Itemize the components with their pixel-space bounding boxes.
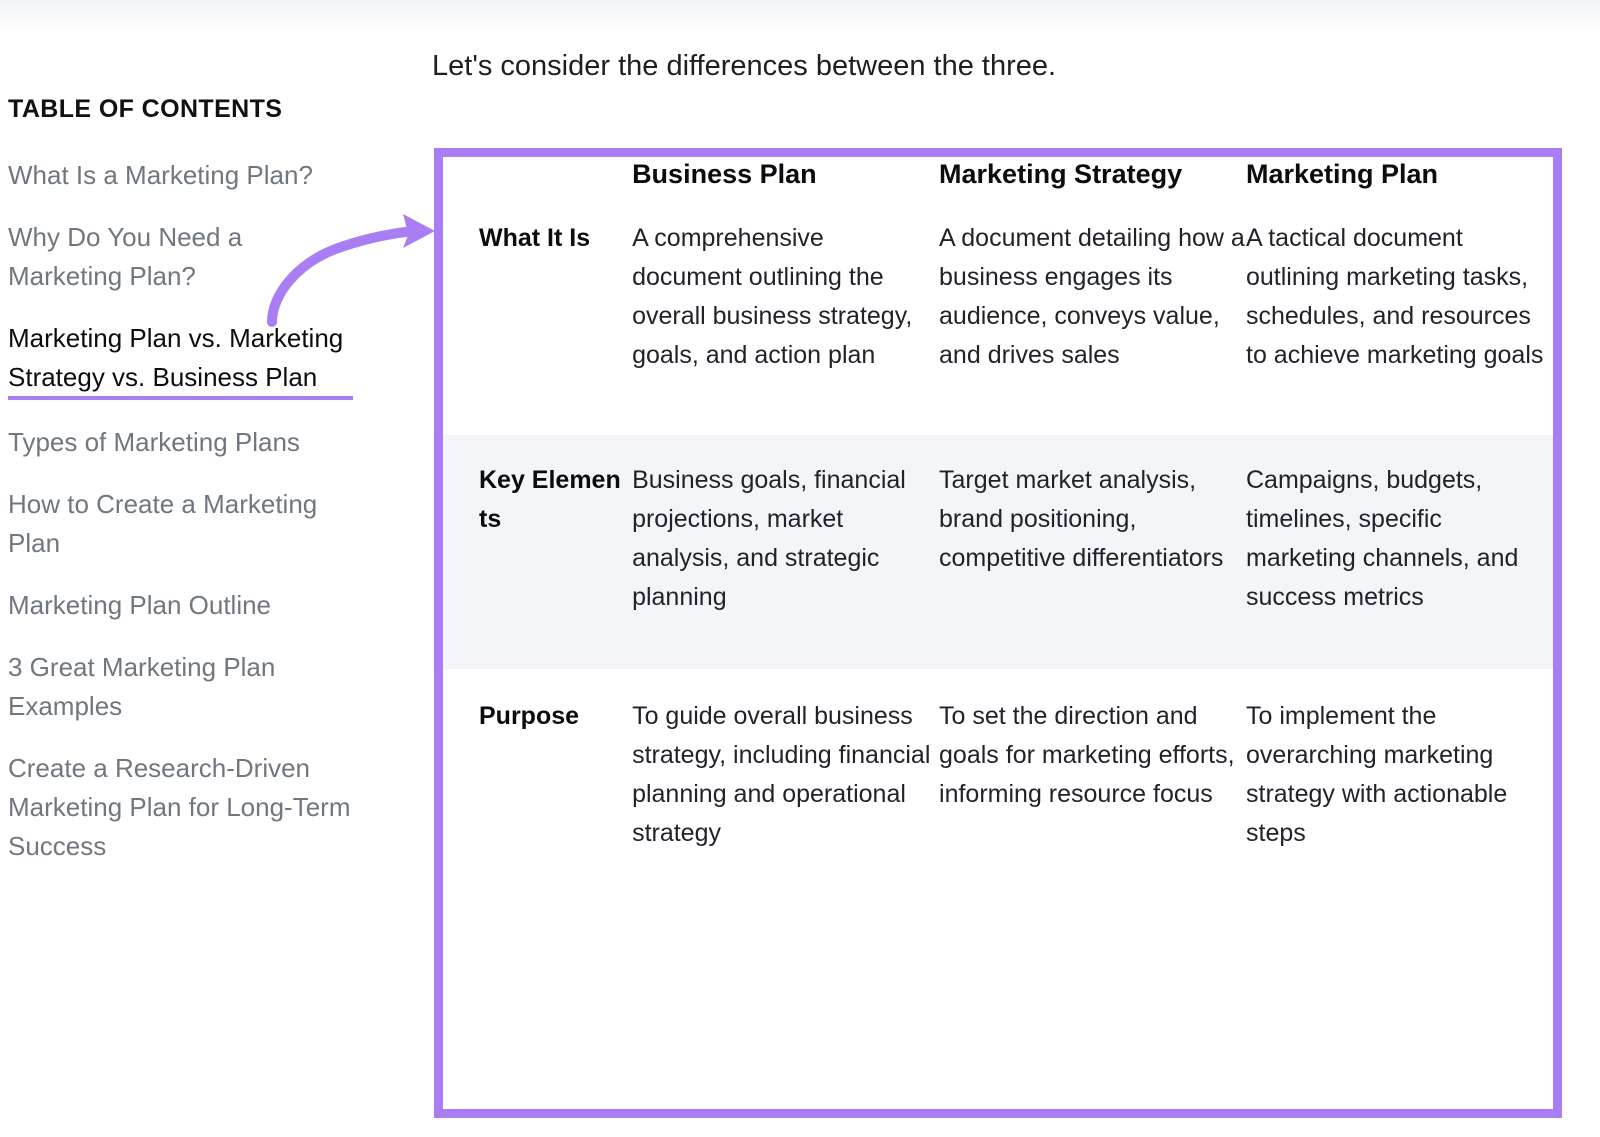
table-header: Business Plan Marketing Strategy Marketi… [443,157,1553,191]
toc-item-types-of-marketing-plans[interactable]: Types of Marketing Plans [8,423,353,462]
article-page: Let's consider the differences between t… [0,0,1600,1137]
top-gradient-strip [0,0,1600,34]
column-header-marketing-plan: Marketing Plan [1246,157,1553,191]
row-label-key-elements: Key Elements [443,435,632,669]
table-row: Purpose To guide overall business strate… [443,669,1553,889]
cell-what-it-is-marketing-strategy: A document detailing how a business enga… [939,191,1246,435]
toc-heading: TABLE OF CONTENTS [8,96,408,124]
toc-item-marketing-plan-vs-strategy-vs-business-plan[interactable]: Marketing Plan vs. Marketing Strategy vs… [8,319,353,400]
toc-item-label: Marketing Plan Outline [8,590,271,620]
table-body: What It Is A comprehensive document outl… [443,191,1553,889]
toc-item-create-a-research-driven-marketing-plan[interactable]: Create a Research-Driven Marketing Plan … [8,749,353,866]
toc-item-label: Why Do You Need a Marketing Plan? [8,222,242,291]
toc-list: What Is a Marketing Plan? Why Do You Nee… [8,156,408,866]
cell-key-elements-marketing-plan: Campaigns, budgets, timelines, specific … [1246,435,1553,669]
toc-item-label: How to Create a Marketing Plan [8,489,317,558]
column-header-marketing-strategy: Marketing Strategy [939,157,1246,191]
intro-paragraph: Let's consider the differences between t… [432,46,1532,86]
toc-item-label: 3 Great Marketing Plan Examples [8,652,275,721]
table-of-contents: TABLE OF CONTENTS What Is a Marketing Pl… [8,96,408,889]
column-header-blank [443,157,632,191]
toc-item-label: Marketing Plan vs. Marketing Strategy vs… [8,319,353,400]
cell-purpose-marketing-strategy: To set the direction and goals for marke… [939,669,1246,889]
column-header-business-plan: Business Plan [632,157,939,191]
comparison-table: Business Plan Marketing Strategy Marketi… [443,157,1553,889]
toc-item-what-is-a-marketing-plan[interactable]: What Is a Marketing Plan? [8,156,353,195]
table-row: What It Is A comprehensive document outl… [443,191,1553,435]
toc-item-why-do-you-need-a-marketing-plan[interactable]: Why Do You Need a Marketing Plan? [8,218,353,296]
cell-purpose-business-plan: To guide overall business strategy, incl… [632,669,939,889]
toc-item-how-to-create-a-marketing-plan[interactable]: How to Create a Marketing Plan [8,485,353,563]
cell-key-elements-marketing-strategy: Target market analysis, brand positionin… [939,435,1246,669]
table-row: Key Elements Business goals, financial p… [443,435,1553,669]
row-label-purpose: Purpose [443,669,632,889]
cell-key-elements-business-plan: Business goals, financial projections, m… [632,435,939,669]
cell-what-it-is-marketing-plan: A tactical document outlining marketing … [1246,191,1553,435]
toc-item-3-great-marketing-plan-examples[interactable]: 3 Great Marketing Plan Examples [8,648,353,726]
comparison-table-frame: Business Plan Marketing Strategy Marketi… [434,148,1562,1118]
toc-item-label: Types of Marketing Plans [8,427,300,457]
cell-purpose-marketing-plan: To implement the overarching marketing s… [1246,669,1553,889]
toc-item-label: Create a Research-Driven Marketing Plan … [8,753,350,861]
cell-what-it-is-business-plan: A comprehensive document outlining the o… [632,191,939,435]
toc-item-marketing-plan-outline[interactable]: Marketing Plan Outline [8,586,353,625]
toc-item-label: What Is a Marketing Plan? [8,160,313,190]
table-header-row: Business Plan Marketing Strategy Marketi… [443,157,1553,191]
row-label-what-it-is: What It Is [443,191,632,435]
